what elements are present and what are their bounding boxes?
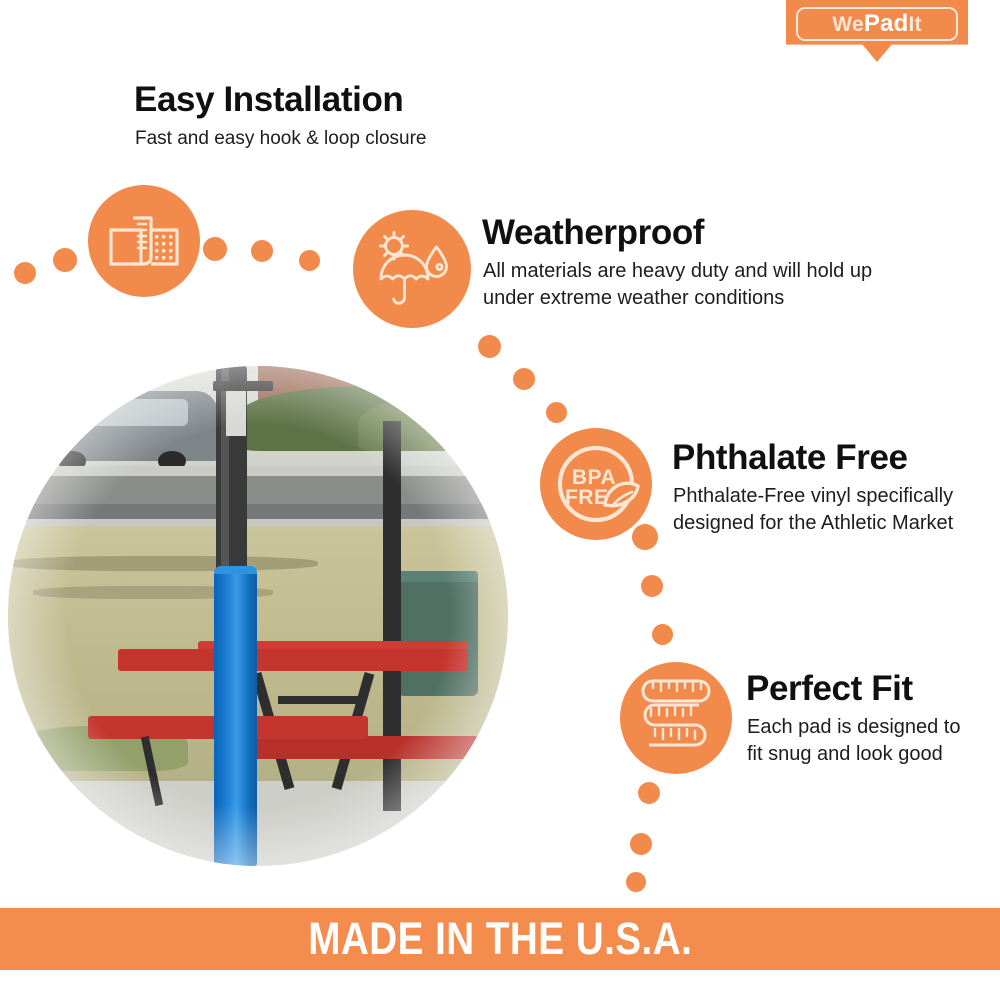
brand-logo: We Pad It: [786, 0, 968, 62]
made-in-usa-text: MADE IN THE U.S.A.: [308, 913, 692, 965]
trail-dot: [626, 872, 646, 892]
feature-subtitle-phthalate-free: Phthalate-Free vinyl specifically design…: [673, 483, 963, 536]
logo-text-pad: Pad: [864, 12, 909, 36]
feature-title-weatherproof: Weatherproof: [482, 213, 704, 253]
trail-dot: [652, 624, 673, 645]
logo-text-it: It: [908, 14, 921, 35]
feature-title-perfect-fit: Perfect Fit: [746, 669, 913, 709]
feature-subtitle-weatherproof: All materials are heavy duty and will ho…: [483, 258, 903, 311]
trail-dot: [478, 335, 501, 358]
infographic-canvas: We Pad It Easy Installation Fast and eas…: [0, 0, 1000, 987]
trail-dot: [630, 833, 652, 855]
trail-dot: [14, 262, 36, 284]
trail-dot: [513, 368, 535, 390]
feature-subtitle-easy-installation: Fast and easy hook & loop closure: [135, 126, 565, 151]
feature-subtitle-perfect-fit: Each pad is designed to fit snug and loo…: [747, 714, 977, 767]
trail-dot: [53, 248, 77, 272]
logo-text-we: We: [832, 14, 864, 35]
sun-umbrella-raindrop-icon: [353, 210, 471, 328]
product-photo: [8, 366, 508, 866]
trail-dot: [546, 402, 567, 423]
feature-title-phthalate-free: Phthalate Free: [672, 438, 908, 478]
measuring-tape-icon: [620, 662, 732, 774]
hook-loop-closure-icon: [88, 185, 200, 297]
trail-dot: [299, 250, 320, 271]
trail-dot: [641, 575, 663, 597]
logo-text-frame: We Pad It: [796, 7, 958, 41]
trail-dot: [251, 240, 273, 262]
photo-vignette: [8, 366, 508, 866]
phthalate-icon-accent-dot: [632, 524, 658, 550]
trail-dot: [203, 237, 227, 261]
bpa-free-leaf-icon: BPA FREE: [540, 428, 652, 540]
trail-dot: [638, 782, 660, 804]
made-in-usa-banner: MADE IN THE U.S.A.: [0, 908, 1000, 970]
feature-title-easy-installation: Easy Installation: [134, 80, 403, 120]
